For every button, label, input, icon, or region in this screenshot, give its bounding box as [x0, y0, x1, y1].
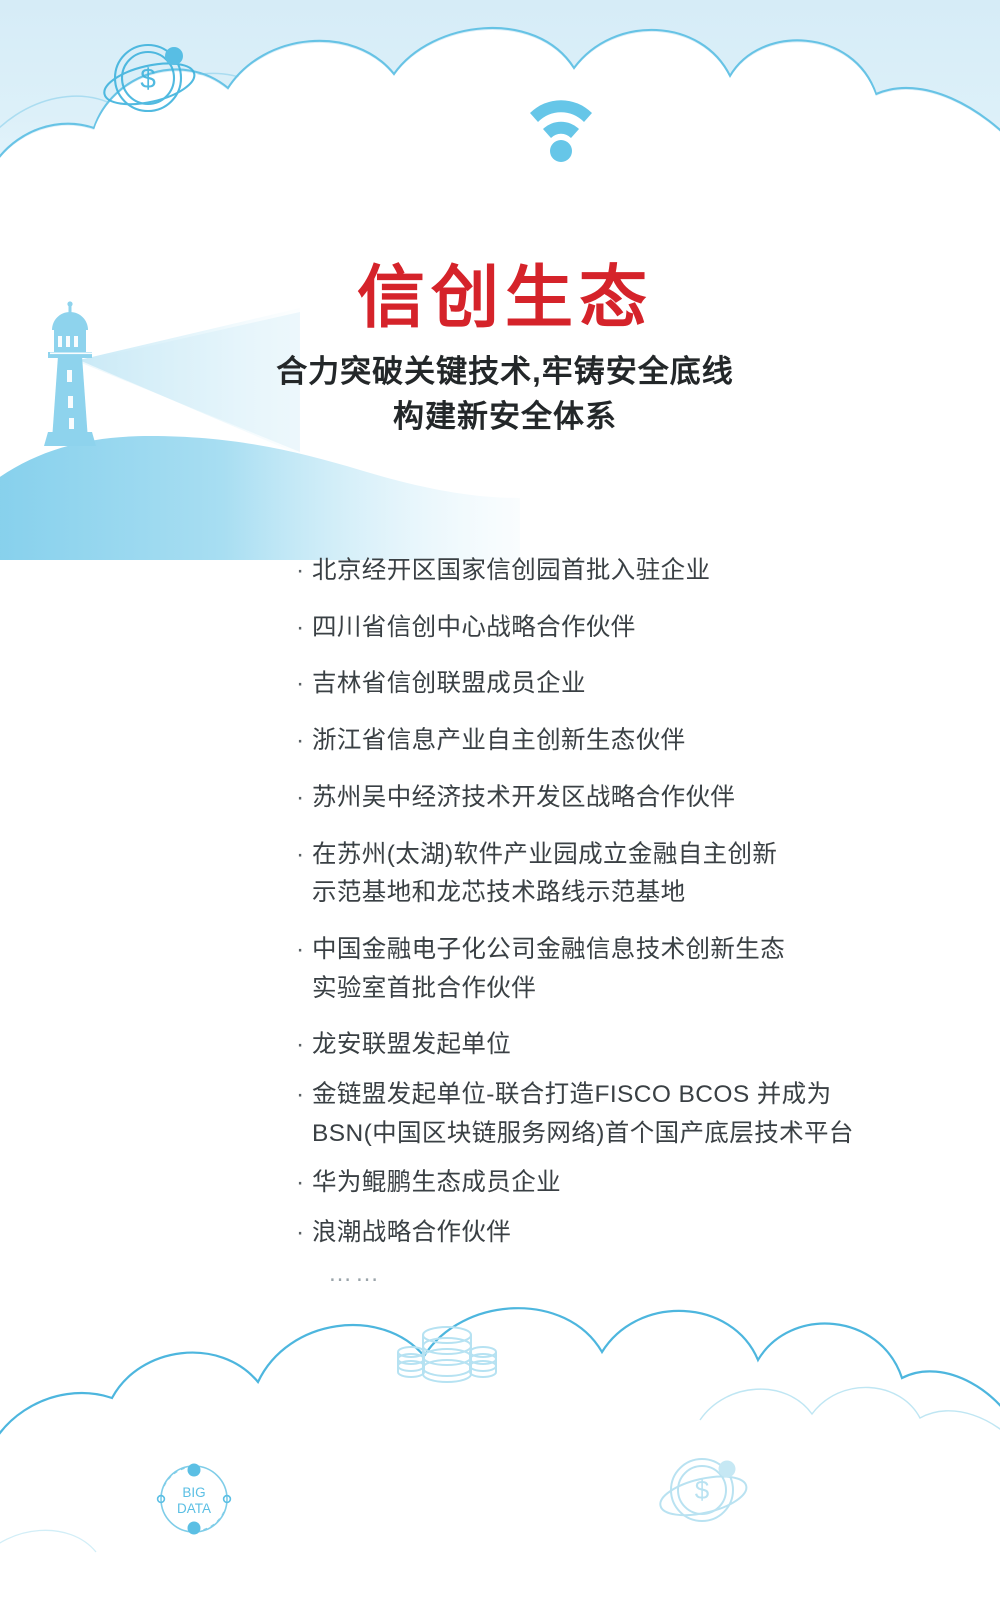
page-subtitle-line-1: 合力突破关键技术,牢铸安全底线	[0, 350, 1000, 395]
list-item-label: 中国金融电子化公司金融信息技术创新生态 实验室首批合作伙伴	[312, 931, 926, 1008]
bullet-marker-icon: ·	[296, 665, 312, 704]
bullet-marker-icon: ·	[296, 722, 312, 761]
list-item-label: 浙江省信息产业自主创新生态伙伴	[312, 722, 926, 761]
list-item: · 华为鲲鹏生态成员企业	[296, 1164, 926, 1203]
list-item-label: 金链盟发起单位-联合打造FISCO BCOS 并成为 BSN(中国区块链服务网络…	[312, 1076, 926, 1153]
big-data-label-line2: DATA	[177, 1501, 211, 1516]
page-title: 信创生态	[0, 262, 1000, 334]
bullet-marker-icon: ·	[296, 836, 312, 875]
coin-planet-icon: $	[100, 45, 198, 112]
poster-canvas: $	[0, 0, 1000, 1598]
list-item: · 苏州吴中经济技术开发区战略合作伙伴	[296, 779, 926, 818]
bullet-marker-icon: ·	[296, 552, 312, 591]
list-item-label: 华为鲲鹏生态成员企业	[312, 1164, 926, 1203]
bullet-marker-icon: ·	[296, 779, 312, 818]
coin-dollar-symbol: $	[140, 63, 156, 94]
list-ellipsis: ……	[328, 1260, 926, 1288]
list-item-label-line2: 实验室首批合作伙伴	[312, 970, 926, 1009]
list-item: · 中国金融电子化公司金融信息技术创新生态 实验室首批合作伙伴	[296, 931, 926, 1008]
bullet-marker-icon: ·	[296, 1214, 312, 1253]
bullet-marker-icon: ·	[296, 1164, 312, 1203]
wifi-icon	[530, 100, 592, 162]
credentials-list: · 北京经开区国家信创园首批入驻企业 · 四川省信创中心战略合作伙伴 · 吉林省…	[296, 552, 926, 1288]
big-data-label-line1: BIG	[182, 1485, 205, 1500]
list-item-label: 龙安联盟发起单位	[312, 1026, 926, 1065]
list-item-label: 北京经开区国家信创园首批入驻企业	[312, 552, 926, 591]
bullet-marker-icon: ·	[296, 609, 312, 648]
list-item: · 北京经开区国家信创园首批入驻企业	[296, 552, 926, 591]
list-item-label-line2: 示范基地和龙芯技术路线示范基地	[312, 874, 926, 913]
list-item-label: 在苏州(太湖)软件产业园成立金融自主创新 示范基地和龙芯技术路线示范基地	[312, 836, 926, 913]
list-item: · 吉林省信创联盟成员企业	[296, 665, 926, 704]
list-item-label-line1: 中国金融电子化公司金融信息技术创新生态	[312, 936, 785, 963]
coin-planet-icon-secondary: $	[657, 1459, 750, 1522]
list-item: · 金链盟发起单位-联合打造FISCO BCOS 并成为 BSN(中国区块链服务…	[296, 1076, 926, 1153]
bullet-marker-icon: ·	[296, 1076, 312, 1115]
list-item: · 在苏州(太湖)软件产业园成立金融自主创新 示范基地和龙芯技术路线示范基地	[296, 836, 926, 913]
list-item-label-line1: 金链盟发起单位-联合打造FISCO BCOS 并成为	[312, 1081, 831, 1108]
list-item-label: 四川省信创中心战略合作伙伴	[312, 609, 926, 648]
list-item-label: 吉林省信创联盟成员企业	[312, 665, 926, 704]
bullet-marker-icon: ·	[296, 1026, 312, 1065]
list-item: · 四川省信创中心战略合作伙伴	[296, 609, 926, 648]
list-item: · 龙安联盟发起单位	[296, 1026, 926, 1065]
coin-stack-icon	[398, 1327, 496, 1382]
list-item-label: 苏州吴中经济技术开发区战略合作伙伴	[312, 779, 926, 818]
bullet-marker-icon: ·	[296, 931, 312, 970]
big-data-icon: BIG DATA	[158, 1464, 231, 1535]
headline-block: 信创生态 合力突破关键技术,牢铸安全底线 构建新安全体系	[0, 262, 1000, 439]
list-item-label-line1: 在苏州(太湖)软件产业园成立金融自主创新	[312, 841, 777, 868]
list-item: · 浪潮战略合作伙伴	[296, 1214, 926, 1253]
coin-dollar-symbol-secondary: $	[695, 1475, 710, 1505]
page-subtitle-line-2: 构建新安全体系	[0, 395, 1000, 440]
list-item-label-line2: BSN(中国区块链服务网络)首个国产底层技术平台	[312, 1115, 926, 1154]
list-item-label: 浪潮战略合作伙伴	[312, 1214, 926, 1253]
list-item: · 浙江省信息产业自主创新生态伙伴	[296, 722, 926, 761]
